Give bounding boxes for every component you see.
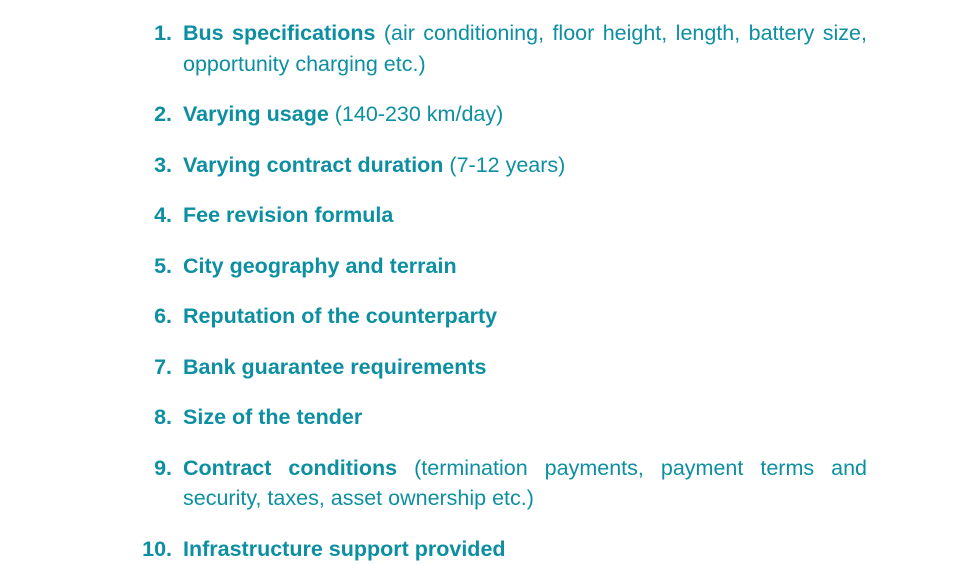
list-item-body: Bus specifications (air conditioning, fl… <box>183 18 867 79</box>
list-item: 6.Reputation of the counterparty <box>140 301 867 332</box>
list-item: 3.Varying contract duration (7-12 years) <box>140 150 867 181</box>
list-item: 10.Infrastructure support provided <box>140 534 867 564</box>
list-item-number: 6. <box>140 301 172 332</box>
list-item-detail: (140-230 km/day) <box>329 102 503 126</box>
list-item-lead: Fee revision formula <box>183 203 393 227</box>
list-item: 5.City geography and terrain <box>140 251 867 282</box>
list-item-lead: City geography and terrain <box>183 254 457 278</box>
list-item-lead: Varying contract duration <box>183 153 443 177</box>
list-item-body: City geography and terrain <box>183 251 867 282</box>
list-item: 2.Varying usage (140-230 km/day) <box>140 99 867 130</box>
list-item-body: Varying usage (140-230 km/day) <box>183 99 867 130</box>
list-item: 7.Bank guarantee requirements <box>140 352 867 383</box>
list-item-lead: Bank guarantee requirements <box>183 355 487 379</box>
list-item-lead: Contract conditions <box>183 456 397 480</box>
list-item-body: Fee revision formula <box>183 200 867 231</box>
numbered-list: 1.Bus specifications (air conditioning, … <box>140 18 867 564</box>
list-item-body: Size of the tender <box>183 402 867 433</box>
list-item-lead: Infrastructure support provided <box>183 537 506 561</box>
list-item-number: 10. <box>140 534 172 564</box>
list-item-number: 4. <box>140 200 172 231</box>
list-item-number: 1. <box>140 18 172 49</box>
list-item-body: Infrastructure support provided <box>183 534 867 564</box>
list-item-number: 8. <box>140 402 172 433</box>
list-item-detail: (7-12 years) <box>443 153 565 177</box>
list-item-lead: Bus specifications <box>183 21 375 45</box>
list-item-body: Varying contract duration (7-12 years) <box>183 150 867 181</box>
list-item-number: 7. <box>140 352 172 383</box>
list-item-number: 2. <box>140 99 172 130</box>
list-item-body: Contract conditions (termination payment… <box>183 453 867 514</box>
list-item-body: Reputation of the counterparty <box>183 301 867 332</box>
list-item: 4.Fee revision formula <box>140 200 867 231</box>
list-item: 9.Contract conditions (termination payme… <box>140 453 867 514</box>
list-item-number: 5. <box>140 251 172 282</box>
list-item: 1.Bus specifications (air conditioning, … <box>140 18 867 79</box>
list-item: 8.Size of the tender <box>140 402 867 433</box>
list-item-lead: Reputation of the counterparty <box>183 304 497 328</box>
list-item-lead: Size of the tender <box>183 405 362 429</box>
list-item-number: 9. <box>140 453 172 484</box>
list-item-lead: Varying usage <box>183 102 329 126</box>
list-item-number: 3. <box>140 150 172 181</box>
slide-canvas: 1.Bus specifications (air conditioning, … <box>0 0 960 540</box>
list-item-body: Bank guarantee requirements <box>183 352 867 383</box>
